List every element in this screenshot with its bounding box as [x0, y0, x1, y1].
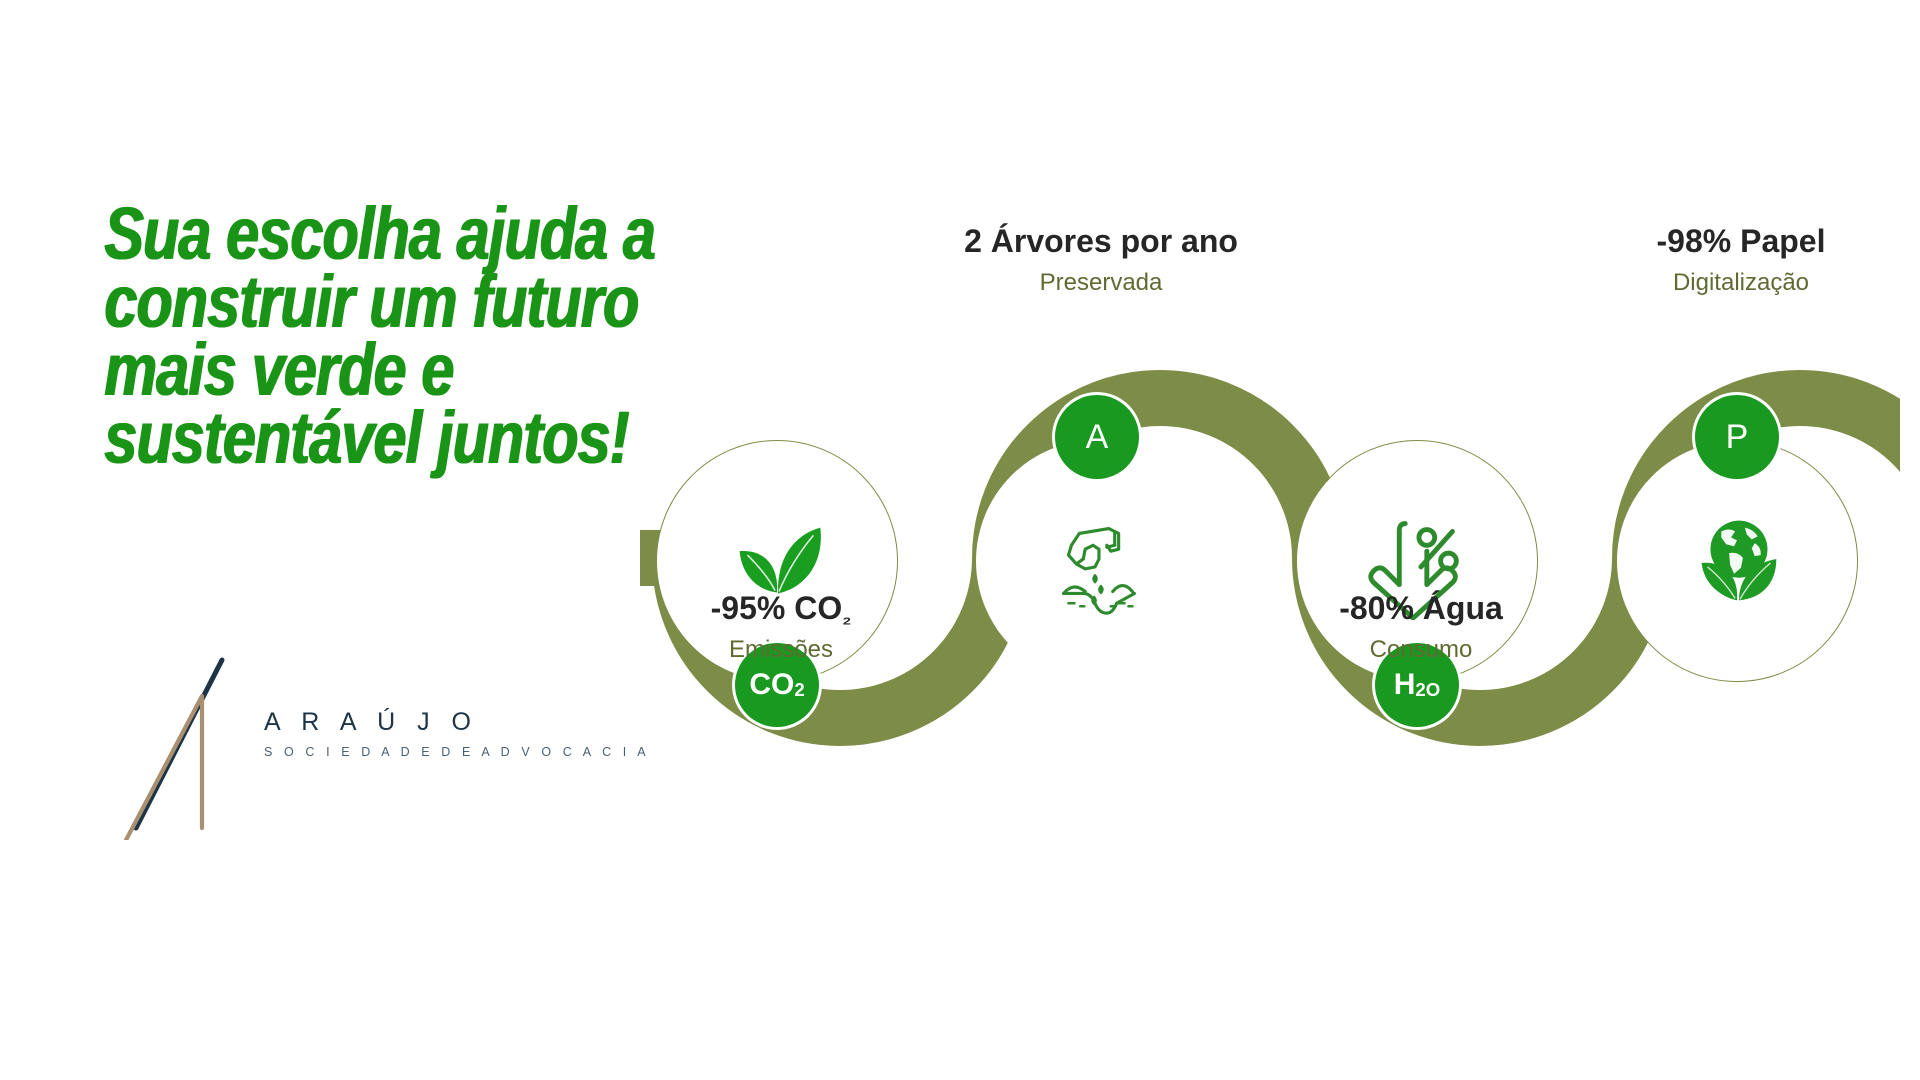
node-papel[interactable]: P — [1616, 440, 1858, 682]
label-co2: -95% CO₂ Emissões — [551, 590, 1011, 665]
label-co2-value-text: -95% CO — [711, 590, 843, 626]
arvores-badge: A — [1055, 395, 1139, 479]
label-agua-caption: Consumo — [1191, 636, 1651, 665]
node-arvores[interactable]: A — [976, 440, 1218, 682]
hand-planting-seeds-icon — [1037, 501, 1157, 621]
label-co2-value: -95% CO₂ — [551, 590, 1011, 627]
brand-logo: A R A Ú J O S O C I E D A D E D E A D V … — [124, 650, 544, 840]
papel-badge: P — [1695, 395, 1779, 479]
logo-subtitle: S O C I E D A D E D E A D V O C A C I A — [264, 746, 544, 759]
page-title: Sua escolha ajuda a construir um futuro … — [104, 200, 696, 472]
logo-name: A R A Ú J O — [264, 710, 544, 735]
label-co2-value-sub: ₂ — [842, 606, 851, 629]
h2o-badge-text: H — [1394, 670, 1416, 700]
slide-canvas: Sua escolha ajuda a construir um futuro … — [0, 0, 1920, 1080]
logo-wordmark: A R A Ú J O S O C I E D A D E D E A D V … — [264, 710, 544, 759]
sustainability-infographic: CO2 -95% CO₂ Emissões — [640, 280, 1900, 1020]
label-arvores: 2 Árvores por ano Preservada — [871, 223, 1331, 298]
h2o-badge-sub: 2O — [1415, 681, 1440, 700]
label-co2-caption: Emissões — [551, 636, 1011, 665]
label-arvores-value: 2 Árvores por ano — [871, 223, 1331, 260]
label-papel-caption: Digitalização — [1511, 269, 1920, 298]
earth-leaves-icon — [1677, 501, 1797, 621]
co2-badge-text: CO — [749, 670, 794, 700]
label-agua: -80% Água Consumo — [1191, 590, 1651, 665]
label-papel: -98% Papel Digitalização — [1511, 223, 1920, 298]
label-agua-value: -80% Água — [1191, 590, 1651, 627]
label-arvores-caption: Preservada — [871, 269, 1331, 298]
arvores-badge-text: A — [1086, 420, 1109, 454]
label-papel-value: -98% Papel — [1511, 223, 1920, 260]
araujo-monogram-icon — [124, 650, 264, 840]
co2-badge-sub: 2 — [794, 681, 804, 700]
papel-badge-text: P — [1726, 420, 1749, 454]
